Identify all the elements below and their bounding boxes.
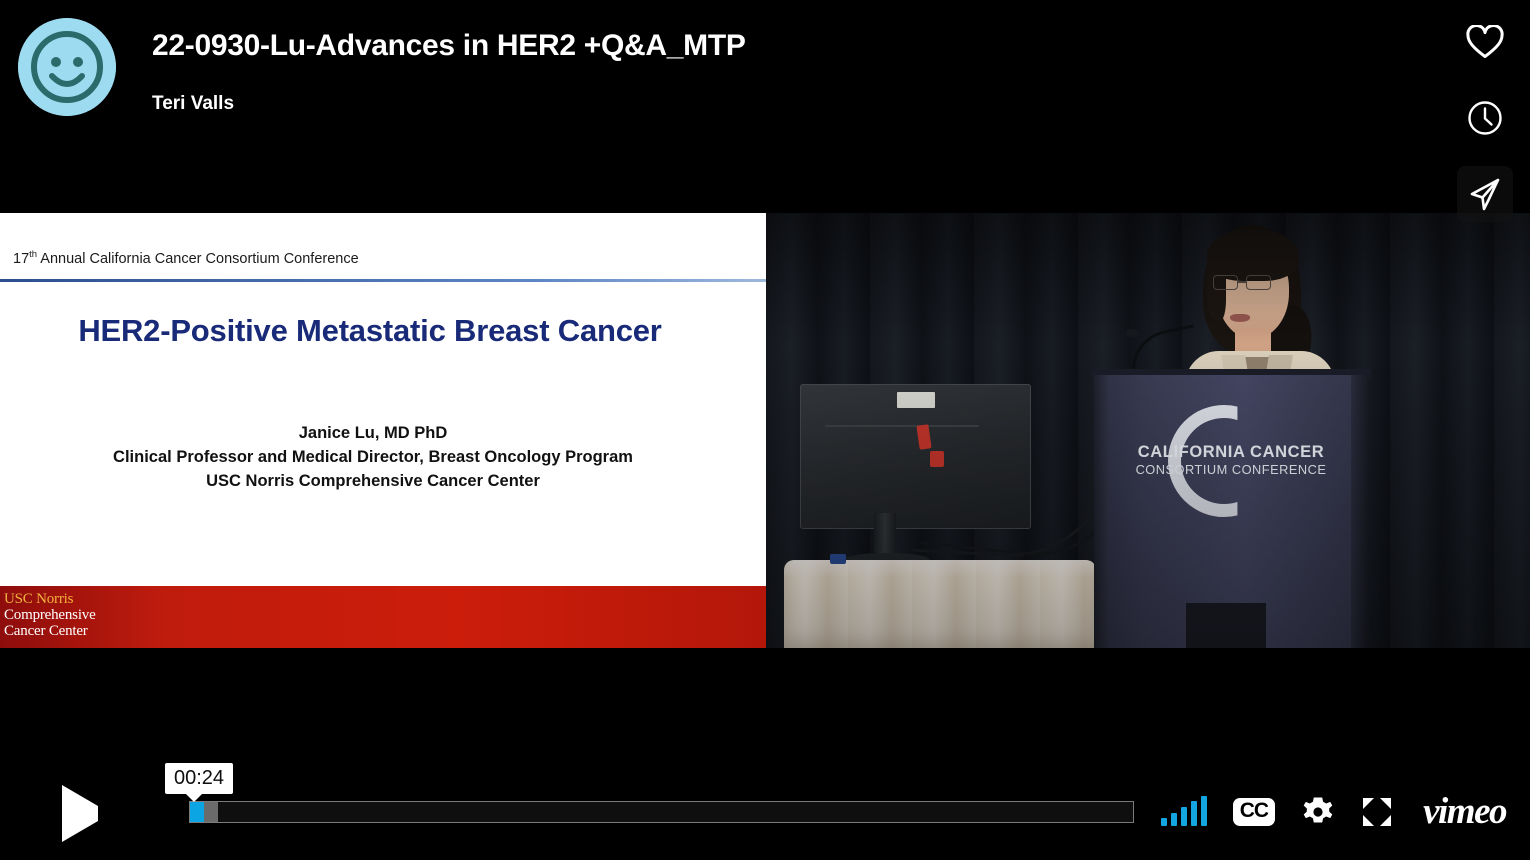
usc-norris-logo: USC Norris Comprehensive Cancer Center [4, 591, 96, 639]
right-control-group: CC vimeo [1161, 789, 1506, 835]
presenter-affiliation: USC Norris Comprehensive Cancer Center [0, 469, 746, 493]
presenter-name: Janice Lu, MD PhD [0, 421, 746, 445]
scrubber-time-tooltip: 00:24 [165, 763, 233, 794]
settings-button[interactable] [1301, 789, 1335, 835]
fullscreen-button[interactable] [1361, 789, 1393, 835]
vimeo-video-player[interactable]: 17th Annual California Cancer Consortium… [0, 0, 1530, 860]
play-triangle-icon [62, 785, 98, 842]
video-author[interactable]: Teri Valls [152, 93, 746, 115]
slide-title: HER2-Positive Metastatic Breast Cancer [0, 313, 740, 349]
slide-footer-bar: USC Norris Comprehensive Cancer Center [0, 586, 766, 648]
gear-icon [1301, 795, 1335, 829]
avatar[interactable] [18, 18, 116, 116]
progress-played [190, 802, 204, 822]
usc-logo-line-2: Comprehensive [4, 607, 96, 623]
video-title-block: 22-0930-Lu-Advances in HER2 +Q&A_MTP Ter… [152, 24, 746, 115]
closed-captions-button[interactable]: CC [1233, 789, 1275, 835]
video-title[interactable]: 22-0930-Lu-Advances in HER2 +Q&A_MTP [152, 24, 746, 68]
presentation-slide: 17th Annual California Cancer Consortium… [0, 213, 766, 648]
camera-feed: CALIFORNIA CANCER CONSORTIUM CONFERENCE [766, 213, 1530, 648]
smiley-face-avatar-icon [18, 18, 116, 116]
slide-divider [0, 279, 766, 282]
player-top-bar: 22-0930-Lu-Advances in HER2 +Q&A_MTP Ter… [0, 0, 1530, 213]
usc-logo-line-3: Cancer Center [4, 623, 96, 639]
slide-conference-header: 17th Annual California Cancer Consortium… [13, 249, 359, 267]
play-button[interactable] [58, 792, 102, 834]
slide-presenter-block: Janice Lu, MD PhD Clinical Professor and… [0, 421, 746, 493]
volume-bars-icon [1161, 798, 1207, 826]
progress-track[interactable] [189, 801, 1134, 823]
fullscreen-icon [1361, 796, 1393, 828]
like-button[interactable] [1457, 14, 1513, 70]
heart-icon [1466, 25, 1504, 59]
watch-later-button[interactable] [1457, 90, 1513, 146]
progress-scrubber[interactable] [189, 801, 1134, 823]
usc-logo-line-1: USC Norris [4, 591, 96, 607]
camera-vignette [766, 213, 1530, 648]
vimeo-logo[interactable]: vimeo [1423, 792, 1506, 832]
clock-icon [1467, 100, 1503, 136]
presenter-role: Clinical Professor and Medical Director,… [0, 445, 746, 469]
cc-label: CC [1233, 798, 1275, 826]
volume-button[interactable] [1161, 789, 1207, 835]
share-button[interactable] [1457, 166, 1513, 222]
paper-plane-icon [1467, 176, 1503, 212]
video-stage[interactable]: 17th Annual California Cancer Consortium… [0, 213, 1530, 648]
top-action-buttons [1454, 14, 1516, 222]
